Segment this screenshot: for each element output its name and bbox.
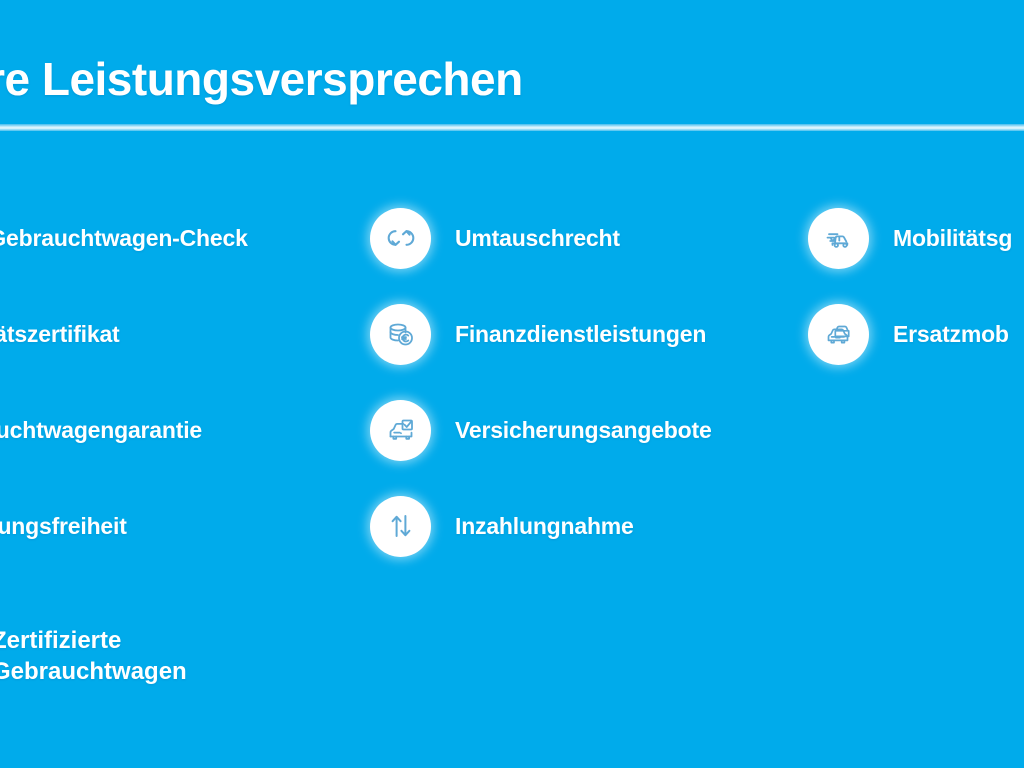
column-middle: Umtauschrecht Finanzdienstleistungen [370, 190, 790, 574]
title-divider [0, 124, 1024, 131]
list-item[interactable]: ualitätszertifikat [0, 286, 368, 382]
badge-line-1: Zertifizierte [0, 626, 187, 657]
up-down-arrows-icon [370, 496, 431, 557]
list-item-label: 60° Gebrauchtwagen-Check [0, 225, 248, 252]
list-item-label: Umtauschrecht [455, 225, 620, 252]
list-item[interactable]: Umtauschrecht [370, 190, 790, 286]
list-item-label: ualitätszertifikat [0, 321, 120, 348]
column-right: Mobilitätsg Ersatzmob [808, 190, 1024, 382]
speeding-car-icon [808, 208, 869, 269]
column-left: 60° Gebrauchtwagen-Check ualitätszertifi… [0, 190, 368, 574]
list-item[interactable]: ebrauchtwagengarantie [0, 382, 368, 478]
page-title: ere Leistungsversprechen [0, 54, 1024, 105]
list-item[interactable]: Wartungsfreiheit [0, 478, 368, 574]
list-item[interactable]: Mobilitätsg [808, 190, 1024, 286]
list-item-label: Wartungsfreiheit [0, 513, 127, 540]
list-item[interactable]: Inzahlungnahme [370, 478, 790, 574]
list-item-label: Inzahlungnahme [455, 513, 634, 540]
slide-canvas: ere Leistungsversprechen 60° Gebrauchtwa… [0, 0, 1024, 768]
list-item-label: ebrauchtwagengarantie [0, 417, 202, 444]
exchange-arrows-icon [370, 208, 431, 269]
car-checkbox-icon [370, 400, 431, 461]
two-cars-icon [808, 304, 869, 365]
list-item-label: Ersatzmob [893, 321, 1009, 348]
list-item-label: Mobilitätsg [893, 225, 1012, 252]
list-item[interactable]: Versicherungsangebote [370, 382, 790, 478]
list-item[interactable]: Finanzdienstleistungen [370, 286, 790, 382]
list-item-label: Finanzdienstleistungen [455, 321, 706, 348]
certified-used-cars-badge: Zertifizierte Gebrauchtwagen [0, 626, 187, 687]
badge-line-2: Gebrauchtwagen [0, 657, 187, 688]
list-item[interactable]: Ersatzmob [808, 286, 1024, 382]
list-item[interactable]: 60° Gebrauchtwagen-Check [0, 190, 368, 286]
list-item-label: Versicherungsangebote [455, 417, 712, 444]
coins-euro-icon [370, 304, 431, 365]
